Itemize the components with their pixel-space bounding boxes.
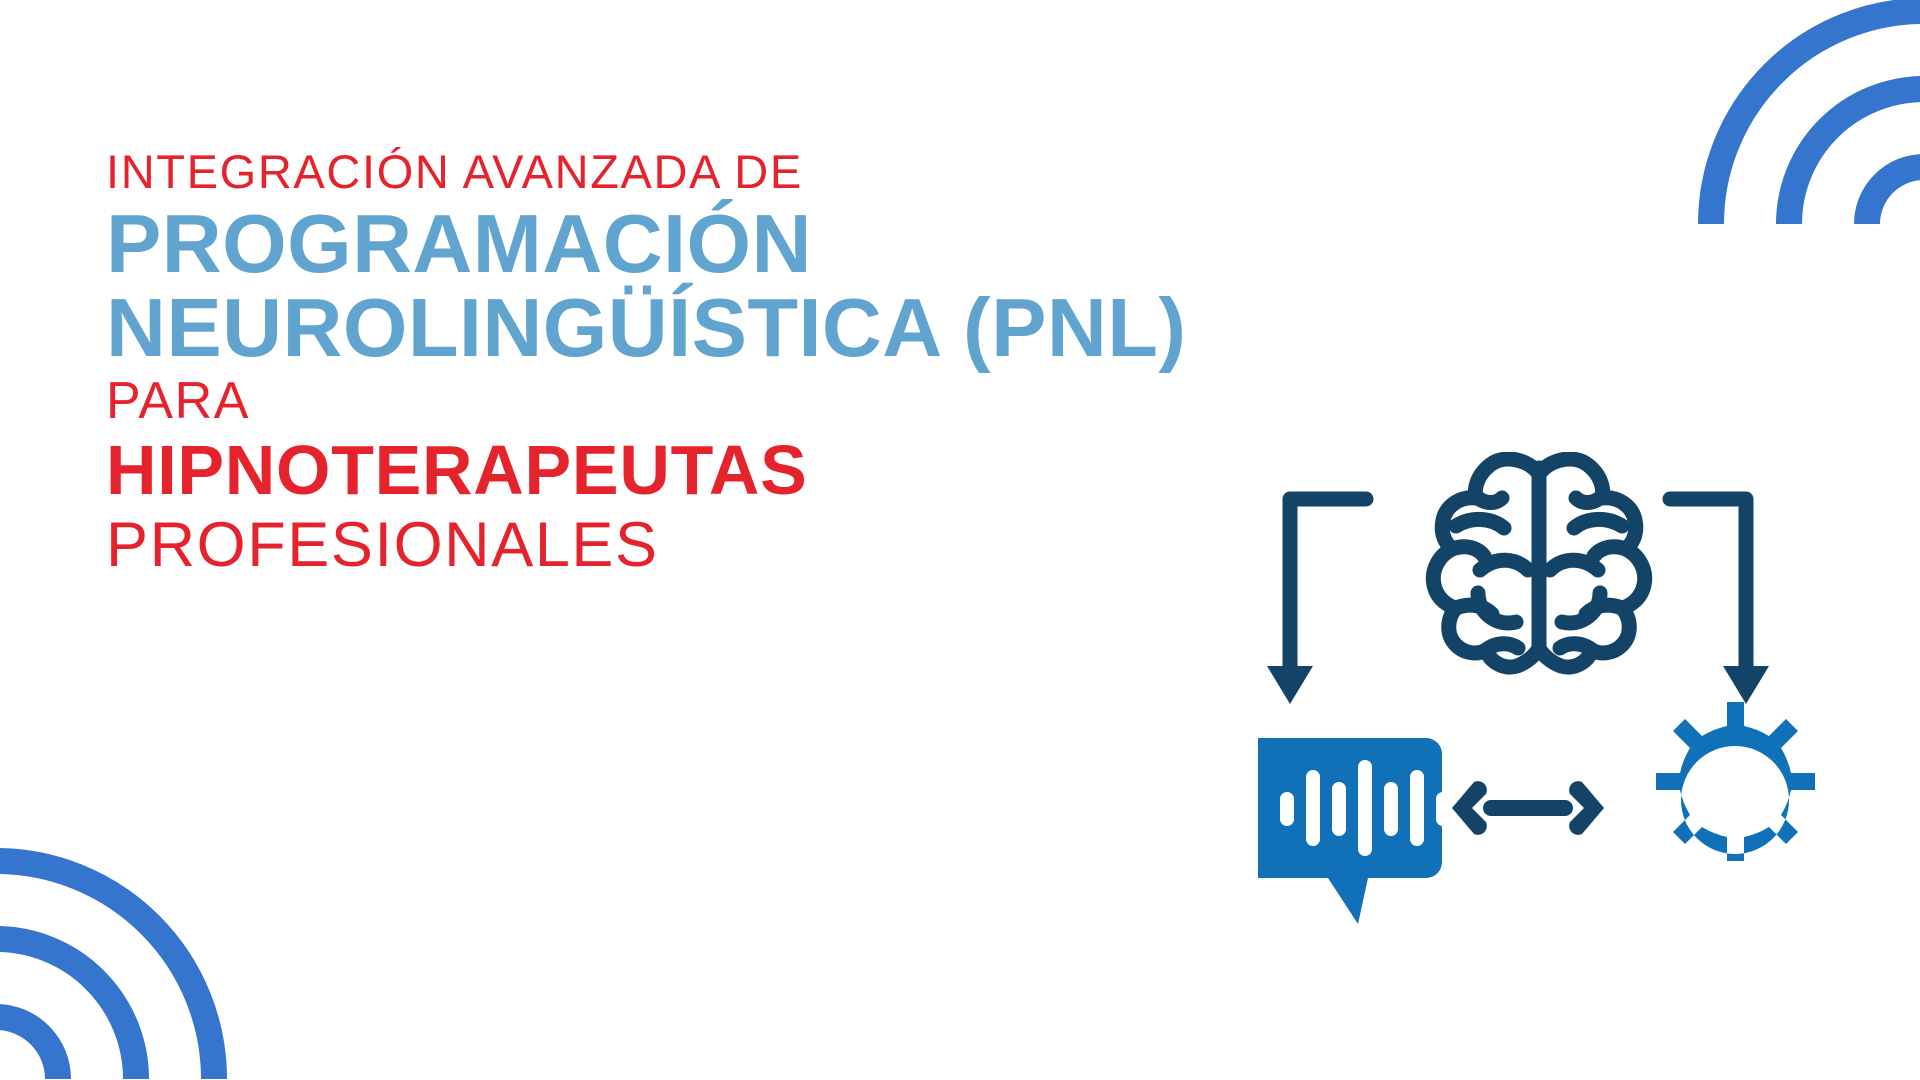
speech-bubble-waveform-icon: [1258, 738, 1450, 924]
bracket-arrow-down-left: [1290, 499, 1366, 674]
pnl-process-diagram: [1258, 452, 1818, 1012]
headline-line-integracion: INTEGRACIÓN AVANZADA DE: [106, 142, 1286, 202]
bracket-arrow-down-right: [1670, 499, 1746, 674]
headline-line-programacion: PROGRAMACIÓN: [106, 202, 1286, 286]
headline-line-neurolinguistica: NEUROLINGÜÍSTICA (PNL): [106, 286, 1286, 370]
slide-canvas: INTEGRACIÓN AVANZADA DE PROGRAMACIÓN NEU…: [0, 0, 1920, 1080]
double-headed-arrow-icon: [1452, 781, 1604, 835]
headline-block: INTEGRACIÓN AVANZADA DE PROGRAMACIÓN NEU…: [106, 142, 1286, 582]
gear-icon: [1656, 702, 1815, 861]
headline-line-para: PARA: [106, 370, 1286, 432]
concentric-arcs-bottom-left-decoration: [0, 839, 246, 1080]
headline-line-hipnoterapeutas: HIPNOTERAPEUTAS: [106, 432, 1286, 508]
headline-line-profesionales: PROFESIONALES: [106, 508, 1286, 582]
concentric-arcs-top-right-decoration: [1664, 0, 1920, 243]
brain-icon: [1433, 459, 1644, 667]
arrow-head-left: [1267, 666, 1313, 704]
arrow-head-right: [1723, 666, 1769, 704]
